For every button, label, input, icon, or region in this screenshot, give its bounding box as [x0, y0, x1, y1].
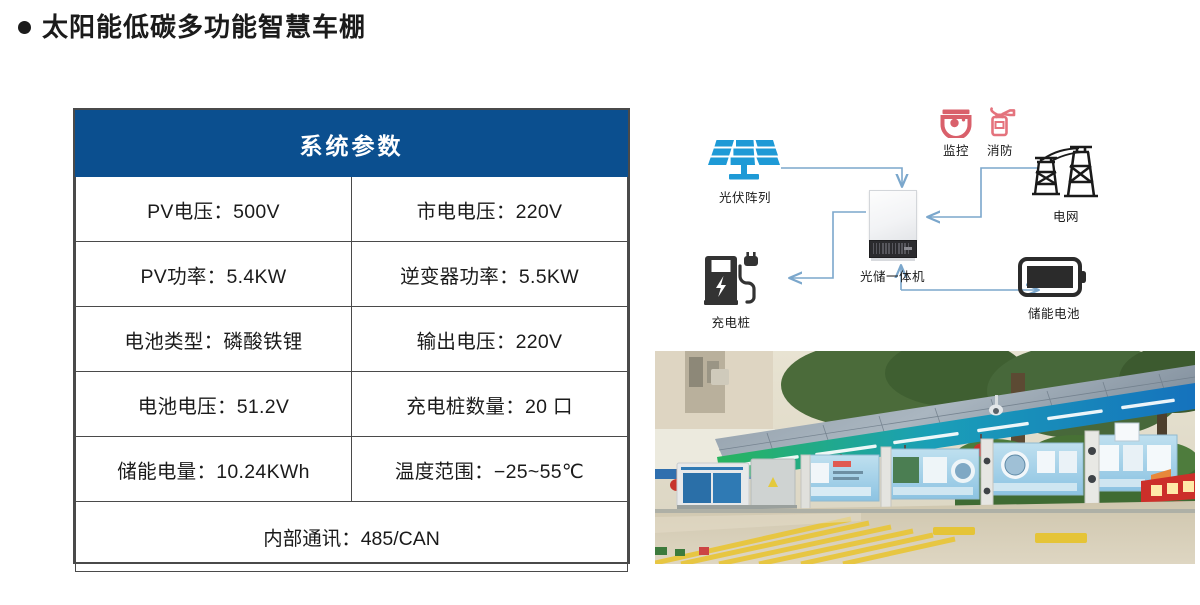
diagram-node-safety-group: 监控 消防 [939, 106, 1016, 159]
diagram-label-pv-array: 光伏阵列 [719, 187, 771, 206]
bullet-dot-icon [18, 21, 31, 34]
solar-carport-photo [655, 351, 1195, 564]
inverter-icon [869, 190, 917, 262]
diagram-label-power-grid: 电网 [1053, 206, 1079, 225]
cctv-camera-icon [939, 108, 973, 138]
table-header-row: 系统参数 [76, 111, 628, 177]
table-row: PV电压：500V 市电电压：220V [76, 177, 628, 242]
param-cell-battery-voltage: 电池电压：51.2V [76, 372, 352, 437]
diagram-label-fire-safety: 消防 [987, 140, 1013, 159]
battery-icon [1018, 255, 1090, 299]
table-row: PV功率：5.4KW 逆变器功率：5.5KW [76, 242, 628, 307]
system-architecture-diagram: 光伏阵列 监控 [655, 100, 1195, 345]
carport-photo-illustration [655, 351, 1195, 564]
diagram-label-inverter: 光储一体机 [860, 266, 925, 285]
power-tower-icon [1030, 142, 1102, 202]
param-cell-temp-range: 温度范围：−25~55℃ [352, 437, 628, 502]
diagram-node-inverter: 光储一体机 [860, 190, 925, 285]
table-row: 电池类型：磷酸铁锂 输出电压：220V [76, 307, 628, 372]
solar-panel-icon [707, 135, 783, 183]
diagram-label-battery: 储能电池 [1028, 303, 1080, 322]
param-cell-battery-type: 电池类型：磷酸铁锂 [76, 307, 352, 372]
page-title: 太阳能低碳多功能智慧车棚 [42, 14, 366, 40]
slide-title-row: 太阳能低碳多功能智慧车棚 [18, 14, 366, 40]
param-cell-pv-power: PV功率：5.4KW [76, 242, 352, 307]
param-cell-charger-count: 充电桩数量：20 口 [352, 372, 628, 437]
diagram-node-monitoring: 监控 [939, 108, 973, 159]
diagram-node-battery: 储能电池 [1018, 255, 1090, 322]
diagram-node-charging-pile: 充电桩 [700, 252, 762, 331]
table-header-cell: 系统参数 [76, 111, 628, 177]
param-cell-grid-voltage: 市电电压：220V [352, 177, 628, 242]
diagram-label-monitoring: 监控 [943, 140, 969, 159]
param-cell-storage-capacity: 储能电量：10.24KWh [76, 437, 352, 502]
diagram-node-fire-safety: 消防 [984, 106, 1016, 159]
table-row: 电池电压：51.2V 充电桩数量：20 口 [76, 372, 628, 437]
param-cell-pv-voltage: PV电压：500V [76, 177, 352, 242]
diagram-label-charging-pile: 充电桩 [711, 312, 750, 331]
diagram-node-pv-array: 光伏阵列 [707, 135, 783, 206]
param-cell-output-voltage: 输出电压：220V [352, 307, 628, 372]
charging-pile-icon [700, 252, 762, 308]
fire-extinguisher-icon [984, 106, 1016, 138]
param-cell-inverter-power: 逆变器功率：5.5KW [352, 242, 628, 307]
system-parameters-table: 系统参数 PV电压：500V 市电电压：220V PV功率：5.4KW 逆变器功… [73, 108, 630, 564]
table-row: 内部通讯：485/CAN [76, 502, 628, 572]
param-cell-internal-comms: 内部通讯：485/CAN [76, 502, 628, 572]
table-row: 储能电量：10.24KWh 温度范围：−25~55℃ [76, 437, 628, 502]
diagram-node-power-grid: 电网 [1030, 142, 1102, 225]
